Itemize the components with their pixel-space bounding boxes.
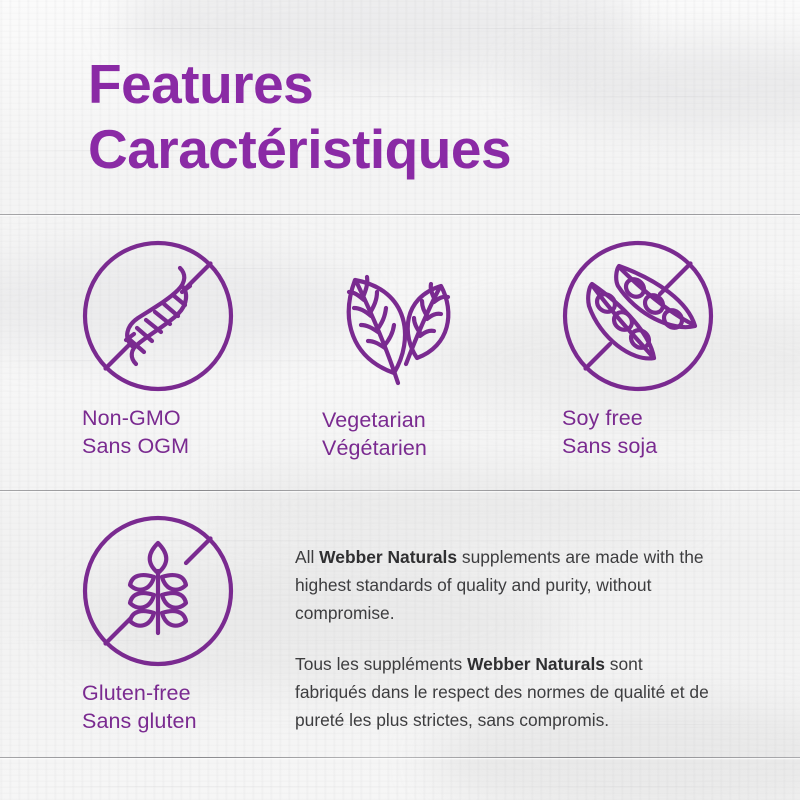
dna-no-entry-icon [82,240,234,392]
feature-label-fr: Sans soja [562,432,714,460]
feature-vegetarian: Vegetarian Végétarien [322,240,474,463]
wood-fibre-line [0,786,800,787]
brand-description-en: All Webber Naturals supplements are made… [295,543,715,628]
feature-label-vegetarian: Vegetarian Végétarien [322,406,474,463]
plank-seam [0,213,800,216]
brand-description: All Webber Naturals supplements are made… [295,543,715,734]
plank-seam [0,489,800,492]
feature-label-soy-free: Soy free Sans soja [562,404,714,461]
brand-description-fr: Tous les suppléments Webber Naturals son… [295,650,715,735]
wood-grain-blob [200,470,700,540]
two-leaves-icon [322,240,474,392]
plank-seam [0,756,800,759]
copy-en-before: All [295,547,319,567]
brand-name-en: Webber Naturals [319,547,457,567]
copy-fr-before: Tous les suppléments [295,654,467,674]
feature-label-en: Vegetarian [322,406,474,434]
feature-gluten-free: Gluten-free Sans gluten [82,515,234,736]
feature-label-en: Gluten-free [82,679,234,707]
soy-pods-no-entry-icon [562,240,714,392]
feature-label-fr: Sans OGM [82,432,234,460]
wood-background-panel: Features Caractéristiques [0,0,800,800]
feature-label-en: Non-GMO [82,404,234,432]
feature-soy-free: Soy free Sans soja [562,240,714,461]
brand-name-fr: Webber Naturals [467,654,605,674]
feature-non-gmo: Non-GMO Sans OGM [82,240,234,461]
wheat-no-entry-icon [82,515,234,667]
page-title: Features Caractéristiques [88,52,748,182]
wood-fibre-line [40,28,660,29]
feature-label-en: Soy free [562,404,714,432]
feature-label-non-gmo: Non-GMO Sans OGM [82,404,234,461]
page-title-en: Features [88,52,748,117]
feature-label-fr: Végétarien [322,434,474,462]
page-title-fr: Caractéristiques [88,117,748,182]
feature-label-fr: Sans gluten [82,707,234,735]
feature-label-gluten-free: Gluten-free Sans gluten [82,679,234,736]
